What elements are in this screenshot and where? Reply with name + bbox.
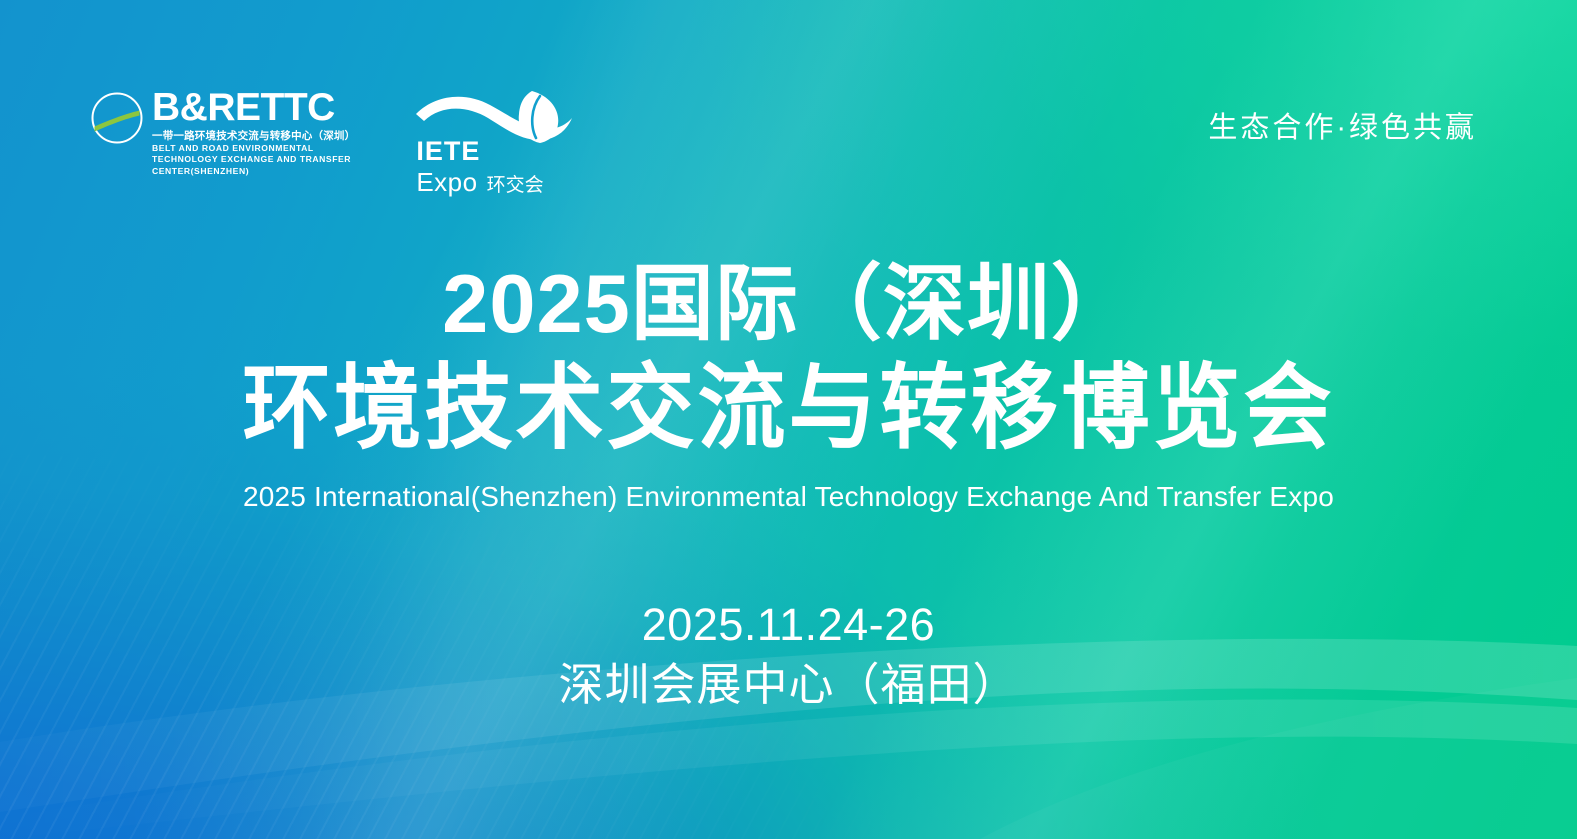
brettc-english-line-2: TECHNOLOGY EXCHANGE AND TRANSFER — [152, 154, 355, 165]
iete-subline: Expo 环交会 — [416, 169, 543, 199]
event-title-line-2: 环境技术交流与转移博览会 — [0, 353, 1577, 463]
brettc-chinese-name: 一带一路环境技术交流与转移中心（深圳） — [152, 129, 355, 143]
event-venue: 深圳会展中心（福田） — [0, 657, 1577, 713]
event-date: 2025.11.24-26 — [0, 597, 1577, 653]
iete-wordmark: IETE Expo 环交会 — [416, 138, 543, 199]
iete-expo-logo: IETE Expo 环交会 — [414, 88, 579, 188]
iete-chinese-abbrev: 环交会 — [487, 172, 544, 199]
event-subtitle-english: 2025 International(Shenzhen) Environment… — [0, 479, 1577, 515]
event-title-line-1: 2025国际（深圳） — [0, 255, 1577, 353]
iete-expo-word: Expo — [416, 169, 477, 196]
banner-main: 2025国际（深圳） 环境技术交流与转移博览会 2025 Internation… — [0, 255, 1577, 713]
brettc-wordmark: B&RETTC — [152, 88, 355, 128]
brettc-logo: B&RETTC 一带一路环境技术交流与转移中心（深圳） BELT AND ROA… — [88, 88, 355, 177]
circle-with-green-band-icon — [88, 90, 146, 148]
brettc-text-block: B&RETTC 一带一路环境技术交流与转移中心（深圳） BELT AND ROA… — [152, 88, 355, 177]
iete-acronym: IETE — [416, 138, 543, 165]
banner-header: B&RETTC 一带一路环境技术交流与转移中心（深圳） BELT AND ROA… — [0, 0, 1577, 215]
logo-divider — [385, 92, 386, 188]
event-banner: B&RETTC 一带一路环境技术交流与转移中心（深圳） BELT AND ROA… — [0, 0, 1577, 839]
brettc-english-line-1: BELT AND ROAD ENVIRONMENTAL — [152, 143, 355, 154]
brettc-english-line-3: CENTER(SHENZHEN) — [152, 166, 355, 177]
logo-group: B&RETTC 一带一路环境技术交流与转移中心（深圳） BELT AND ROA… — [88, 88, 579, 188]
event-slogan: 生态合作·绿色共赢 — [1208, 104, 1477, 146]
